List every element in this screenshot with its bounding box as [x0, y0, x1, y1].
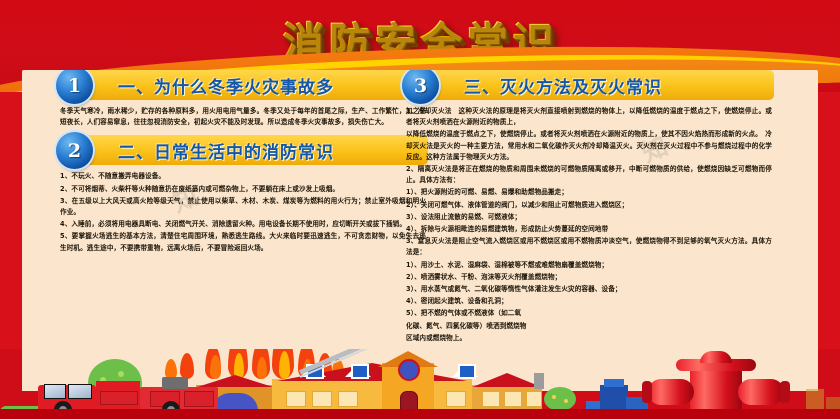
truck-roof-box [162, 377, 188, 389]
section-3-item: 区域内或燃烧物上。 [406, 333, 772, 344]
hydrant-cap-right [780, 381, 790, 403]
fire-safety-poster: 消防安全常识 知 知 一、为什么冬季火灾事故多 1 冬季天气寒冷，雨水稀少，贮存… [0, 0, 840, 419]
section-3-item: 2）、喷洒雾状水、干粉、泡沫等灭火剂覆盖燃烧物； [406, 272, 772, 283]
section-2-body: 1、不玩火、不随意搬弄电器设备。 2、不可将烟蒂、火柴杆等火种随意扔在废纸篓内或… [60, 171, 426, 253]
section-3-item: 以降低燃烧的温度于燃点之下，使燃烧停止。或者将灭火剂喷洒在火源附近的物质上，使其… [406, 129, 772, 163]
section-1: 一、为什么冬季火灾事故多 1 [56, 70, 428, 100]
section-2-item: 2、不可将烟蒂、火柴杆等火种随意扔在废纸篓内或可燃杂物上，不要躺在床上或沙发上吸… [60, 184, 426, 195]
tower-round-window [398, 359, 420, 381]
section-3-item: 1）、用沙土、水泥、湿麻袋、湿棉被等不燃或难燃物扇覆盖燃烧物； [406, 260, 772, 271]
section-3-item: 4）、密闭起火建筑、设备和孔洞； [406, 296, 772, 307]
right-column: 三、灭火方法及灭火常识 3 1、冷却灭火法 这种灭火法的原理是将灭火剂直接喷射到… [402, 70, 774, 351]
section-3-item: 2、隔离灭火法是将正在燃烧的物质和周围未燃烧的可燃物质隔离或移开，中断可燃物质的… [406, 164, 772, 186]
section-1-heading-bar: 一、为什么冬季火灾事故多 [82, 70, 428, 100]
hydrant-cap-left [642, 381, 652, 403]
left-column: 一、为什么冬季火灾事故多 1 冬季天气寒冷，雨水稀少，贮存的各种原料多，用火用电… [56, 70, 428, 261]
section-3-item: 3）、用水蒸气或氮气、二氧化碳等惰性气体灌注发生火灾的容器、设备； [406, 284, 772, 295]
section-3-item: 5）、把不燃的气体或不燃液体（如二氧 [406, 308, 772, 319]
section-1-body: 冬季天气寒冷，雨水稀少，贮存的各种原料多，用火用电用气量多。冬季又处于每年的首尾… [60, 106, 426, 128]
truck-locker [184, 391, 214, 407]
section-3-body: 1、冷却灭火法 这种灭火法的原理是将灭火剂直接喷射到燃烧的物体上，以降低燃烧的温… [406, 106, 772, 344]
section-3-item: 1、冷却灭火法 这种灭火法的原理是将灭火剂直接喷射到燃烧的物体上，以降低燃烧的温… [406, 106, 772, 128]
section-3-heading-bar: 三、灭火方法及灭火常识 [428, 70, 774, 100]
section-3-item: 2）、关闭可燃气体、液体管道的阀门，以减少和阻止可燃物质进入燃烧区； [406, 200, 772, 211]
section-2-item: 4、入睡前，必须将用电器具断电、关闭燃气开关、消除遗留火种。用电设备长期不使用时… [60, 219, 426, 230]
section-1-paragraph: 冬季天气寒冷，雨水稀少，贮存的各种原料多，用火用电用气量多。冬季又处于每年的首尾… [60, 106, 426, 128]
section-2-heading-bar: 二、日常生活中的消防常识 [82, 135, 428, 165]
section-2-item: 5、要掌握火场逃生的基本方法，清楚住宅周围环境，熟悉逃生路线。大火来临时要迅速逃… [60, 231, 426, 253]
truck-locker [100, 391, 138, 405]
content-panel: 知 知 一、为什么冬季火灾事故多 1 冬季天气寒冷，雨水稀少，贮存的各种原料多，… [22, 70, 818, 370]
section-3-item: 3）、设法阻止流散的易燃、可燃液体； [406, 212, 772, 223]
section-3-item: 化碳、氮气、四氯化碳等）喷洒到燃烧物 [406, 321, 772, 332]
section-3-item: 3、窒息灭火法是阻止空气流入燃烧区或用不燃烧区或用不燃物质冲淡空气，使燃烧物得不… [406, 236, 772, 258]
section-2: 二、日常生活中的消防常识 2 [56, 135, 428, 165]
scene-ground [0, 409, 840, 419]
section-2-item: 1、不玩火、不随意搬弄电器设备。 [60, 171, 426, 182]
bottom-illustration [0, 349, 840, 419]
section-3: 三、灭火方法及灭火常识 3 [402, 70, 774, 100]
section-2-heading-text: 二、日常生活中的消防常识 [118, 138, 334, 163]
section-3-item: 4）、拆除与火源相毗连的易燃建筑物，形成防止火势蔓延的空间地带 [406, 224, 772, 235]
section-3-heading-text: 三、灭火方法及灭火常识 [464, 73, 662, 98]
section-3-item: 1）、把火源附近的可燃、易燃、易爆和助燃物品搬走； [406, 187, 772, 198]
section-2-item: 3、在五级以上大风天或高火险等级天气，禁止使用以柴草、木材、木炭、煤炭等为燃料的… [60, 196, 426, 218]
section-1-heading-text: 一、为什么冬季火灾事故多 [118, 73, 334, 98]
